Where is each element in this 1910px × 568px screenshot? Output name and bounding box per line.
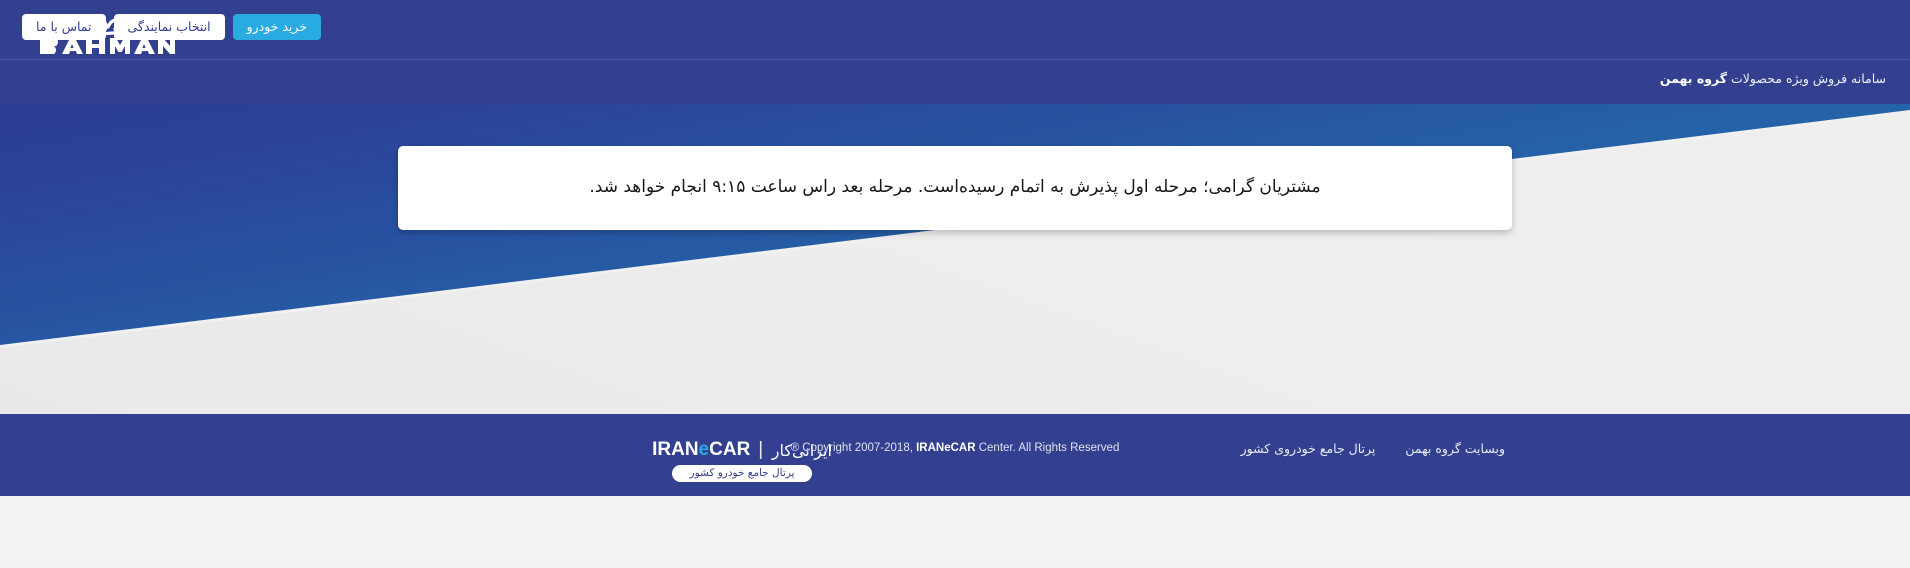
header-tagline: سامانه فروش ویژه محصولات گروه بهمن (1660, 71, 1886, 86)
nav-button-select-dealership[interactable]: انتخاب نمایندگی (114, 14, 225, 40)
iranecar-persian: ایرانی‌کار (772, 442, 832, 460)
iranecar-latin: IRANeCAR (652, 440, 750, 461)
nav-button-buy-car[interactable]: خرید خودرو (233, 14, 321, 40)
header-top-bar: خرید خودرو انتخاب نمایندگی تماس با ما (0, 0, 1910, 60)
footer-copyright: ® Copyright 2007-2018, IRANeCAR Center. … (0, 442, 1910, 454)
iranecar-footer-logo[interactable]: IRANeCAR | ایرانی‌کار پرتال جامع خودرو ک… (672, 440, 812, 482)
iranecar-logo-tagline-pill: پرتال جامع خودرو کشور (672, 465, 812, 482)
tagline-brand: گروه بهمن (1660, 71, 1727, 86)
iranecar-latin-e: e (699, 439, 710, 460)
copyright-suffix: Center. All Rights Reserved (976, 442, 1120, 454)
page-root: خرید خودرو انتخاب نمایندگی تماس با ما سا… (0, 0, 1910, 568)
site-header: خرید خودرو انتخاب نمایندگی تماس با ما سا… (0, 0, 1910, 105)
tagline-prefix: سامانه فروش ویژه محصولات (1727, 71, 1886, 86)
nav-button-contact-us[interactable]: تماس با ما (22, 14, 106, 40)
site-footer: وبسایت گروه بهمن پرتال جامع خودروی کشور … (0, 414, 1910, 496)
header-nav: خرید خودرو انتخاب نمایندگی تماس با ما (22, 14, 321, 40)
footer-inner: وبسایت گروه بهمن پرتال جامع خودروی کشور … (0, 414, 1910, 496)
iranecar-logo-separator: | (756, 440, 765, 461)
notice-card: مشتریان گرامی؛ مرحله اول پذیرش به اتمام … (398, 146, 1512, 230)
iranecar-logo-wordmark: IRANeCAR | ایرانی‌کار (672, 440, 812, 461)
iranecar-latin-part2: CAR (709, 439, 750, 460)
page-bottom-strip (0, 496, 1910, 568)
iranecar-latin-part1: IRAN (652, 439, 698, 460)
notice-message: مشتریان گرامی؛ مرحله اول پذیرش به اتمام … (561, 175, 1348, 201)
header-tagline-bar: سامانه فروش ویژه محصولات گروه بهمن (0, 60, 1910, 104)
copyright-brand: IRANeCAR (916, 442, 975, 454)
